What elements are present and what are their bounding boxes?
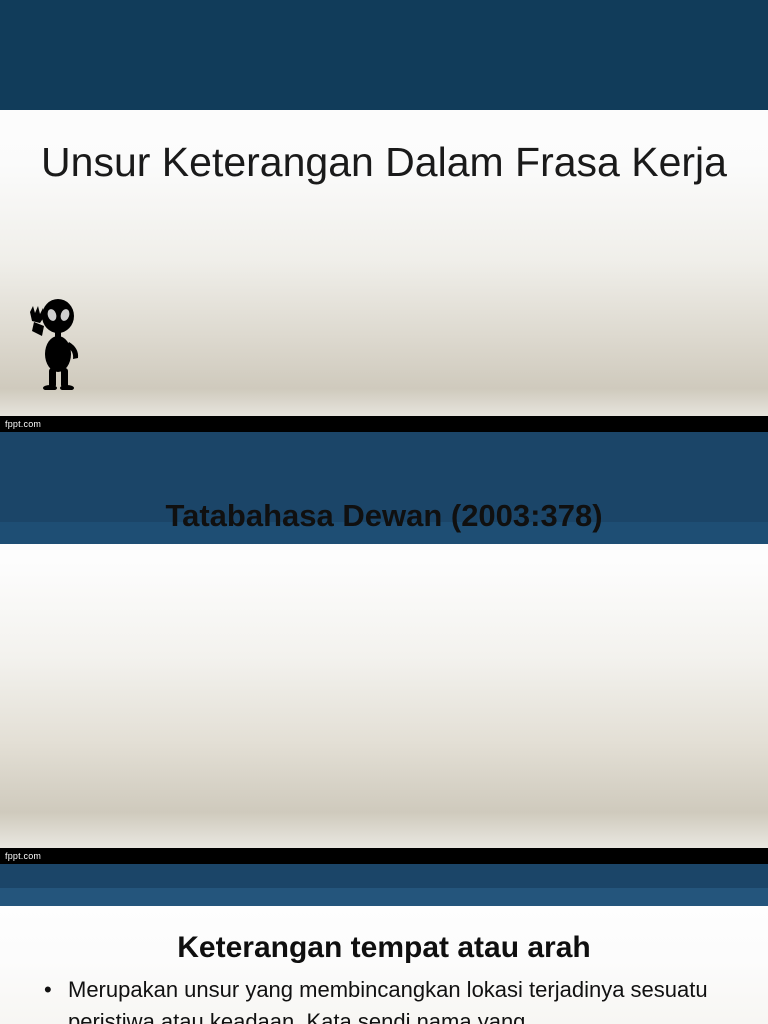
slide-3: Keterangan tempat atau arah • Merupakan … [0,864,768,1024]
slide-3-title: Keterangan tempat atau arah [0,931,768,965]
slide-1-footer-watermark: fppt.com [0,416,768,432]
slide-3-top-band [0,864,768,888]
slide-1-top-band [0,0,768,110]
slide-deck: Unsur Keterangan Dalam Frasa Kerja [0,0,768,1024]
bullet-marker: • [44,974,52,1006]
slide-2: Tatabahasa Dewan (2003:378) Keterangan t… [0,432,768,864]
slide-3-top-band-secondary [0,888,768,906]
slide-2-title: Tatabahasa Dewan (2003:378) [0,498,768,534]
slide-2-footer-watermark: fppt.com [0,848,768,864]
alien-figure-icon [16,294,86,390]
slide-3-bullet-item: • Merupakan unsur yang membincangkan lok… [44,974,744,1024]
slide-1-title: Unsur Keterangan Dalam Frasa Kerja [0,137,768,187]
bullet-text: Merupakan unsur yang membincangkan lokas… [68,974,744,1024]
slide-1: Unsur Keterangan Dalam Frasa Kerja [0,0,768,432]
